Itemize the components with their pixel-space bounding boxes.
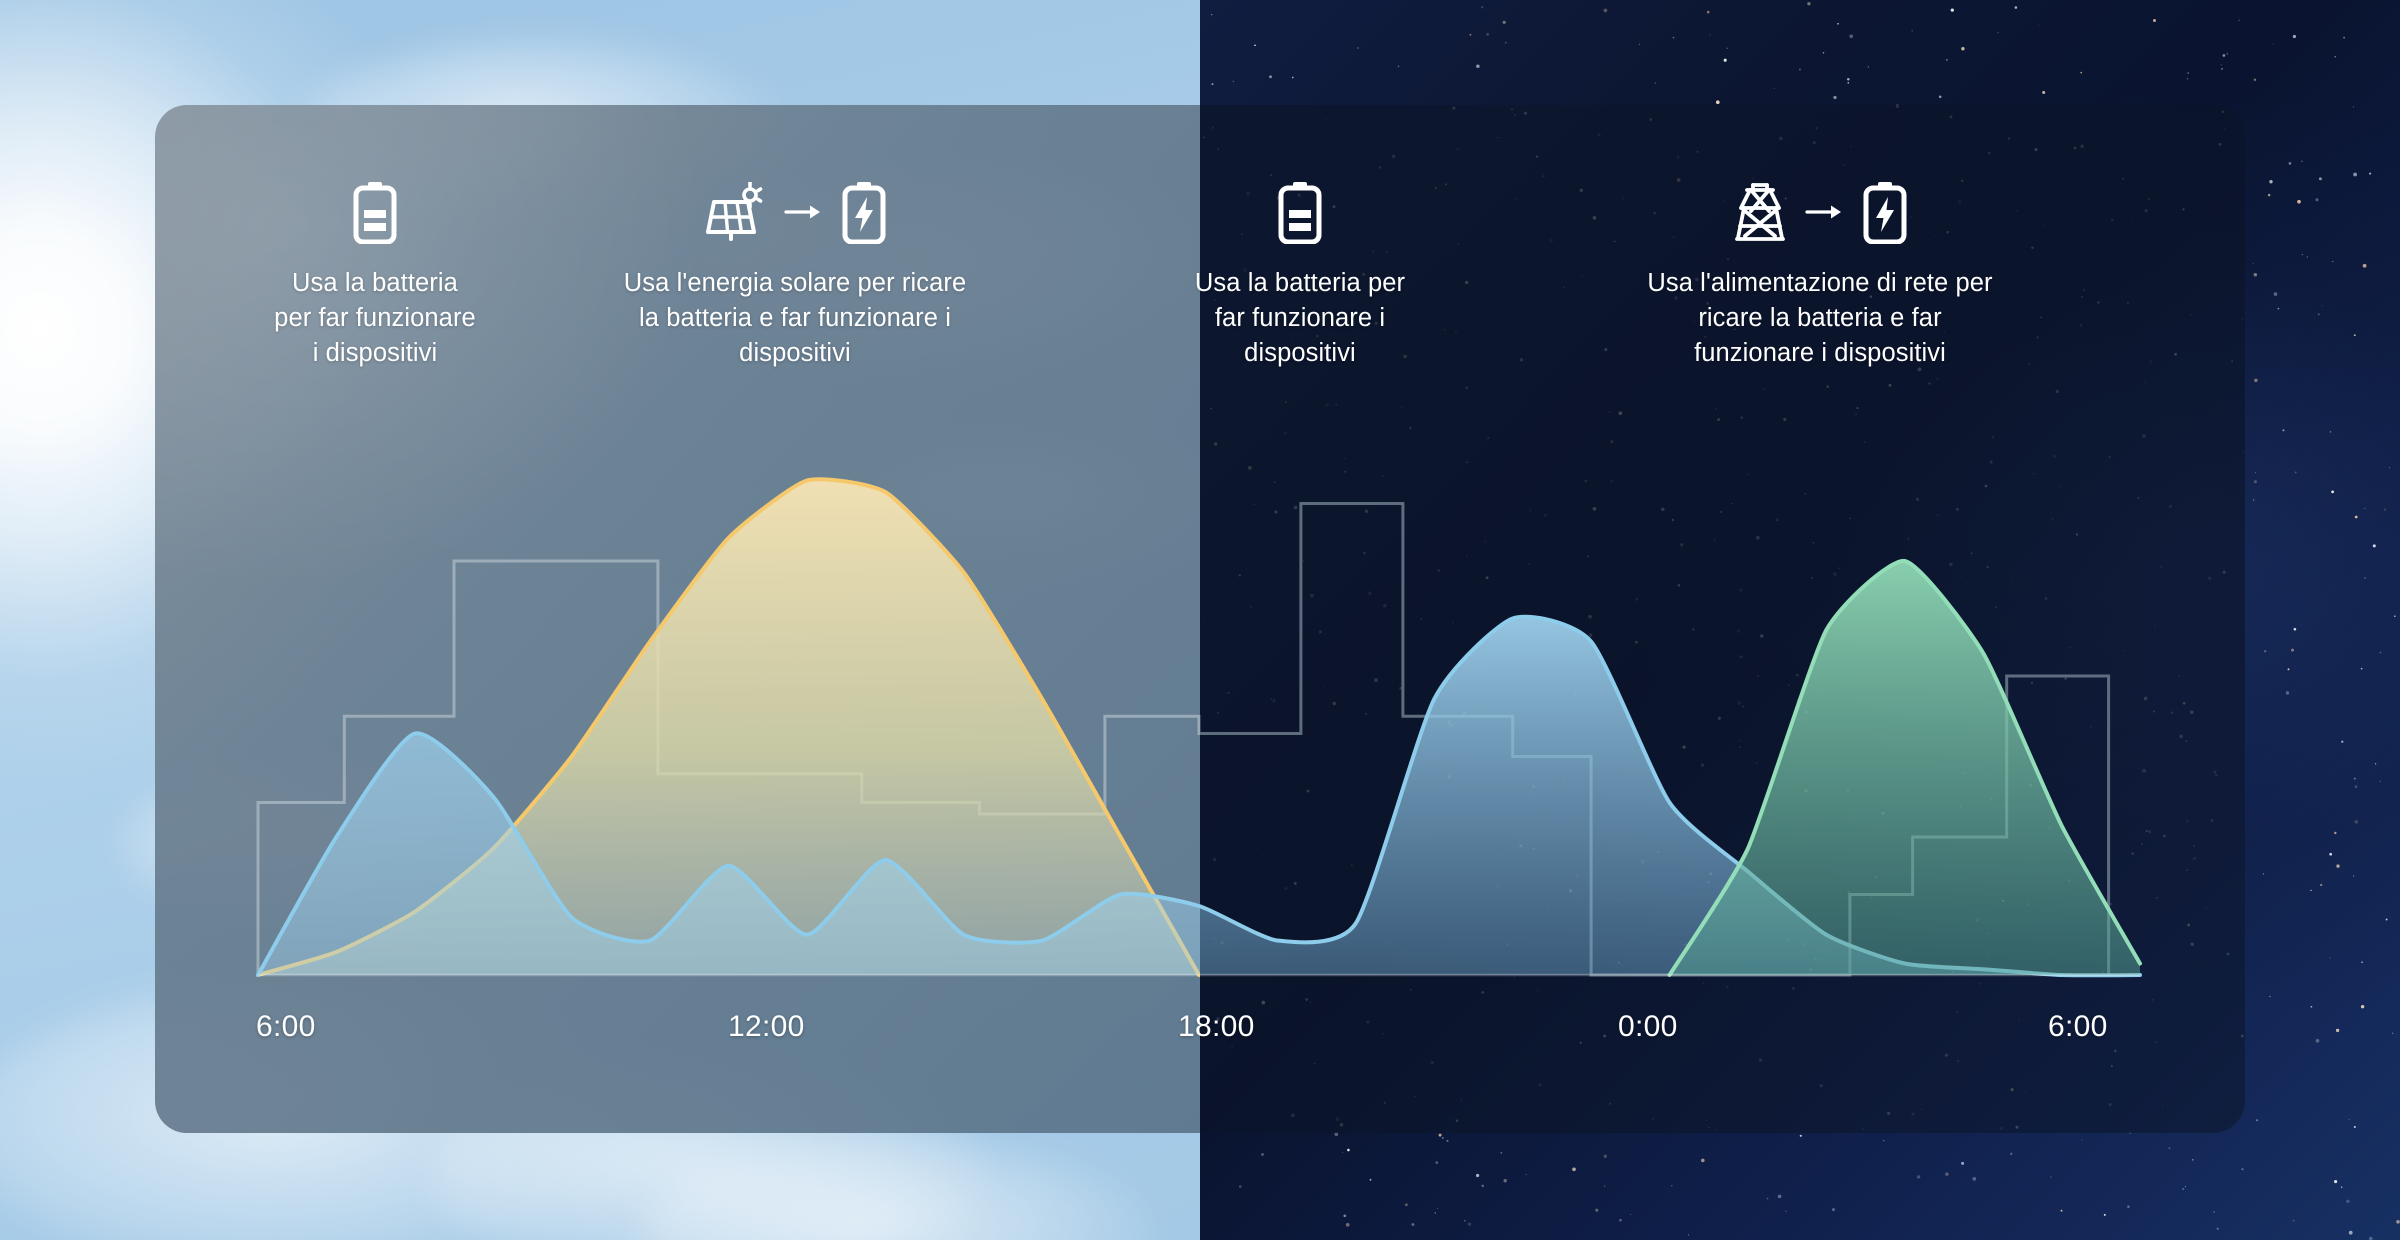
battery-half-icon bbox=[1276, 180, 1324, 244]
legend-item-battery-day: Usa la batteria per far funzionare i dis… bbox=[230, 180, 520, 372]
legend-item-label: Usa l'energia solare per ricare la batte… bbox=[580, 266, 1010, 372]
legend-icon-group bbox=[1600, 180, 2040, 244]
power-pylon-icon bbox=[1731, 181, 1789, 243]
legend-icon-group bbox=[1125, 180, 1475, 244]
battery-half-icon bbox=[1276, 180, 1324, 244]
legend-item-label: Usa l'alimentazione di rete per ricare l… bbox=[1600, 266, 2040, 372]
battery-charging-icon bbox=[840, 180, 888, 244]
battery-charging-icon bbox=[1861, 180, 1909, 244]
arrow-right-icon bbox=[1805, 200, 1845, 224]
legend-item-battery-night: Usa la batteria per far funzionare i dis… bbox=[1125, 180, 1475, 372]
arrow-right-icon bbox=[784, 200, 824, 224]
legend-item-solar-to-battery: Usa l'energia solare per ricare la batte… bbox=[580, 180, 1010, 372]
legend-icon-group bbox=[580, 180, 1010, 244]
legend-item-label: Usa la batteria per far funzionare i dis… bbox=[1125, 266, 1475, 372]
arrow-right-icon bbox=[784, 200, 824, 224]
power-pylon-icon bbox=[1731, 181, 1789, 243]
legend-item-grid-to-battery: Usa l'alimentazione di rete per ricare l… bbox=[1600, 180, 2040, 372]
legend-item-label: Usa la batteria per far funzionare i dis… bbox=[230, 266, 520, 372]
battery-charging-icon bbox=[840, 180, 888, 244]
solar-panel-icon bbox=[702, 182, 768, 242]
solar-panel-icon bbox=[702, 182, 768, 242]
battery-charging-icon bbox=[1861, 180, 1909, 244]
legend-row: Usa la batteria per far funzionare i dis… bbox=[0, 0, 2400, 1240]
battery-half-icon bbox=[351, 180, 399, 244]
arrow-right-icon bbox=[1805, 200, 1845, 224]
legend-icon-group bbox=[230, 180, 520, 244]
battery-half-icon bbox=[351, 180, 399, 244]
